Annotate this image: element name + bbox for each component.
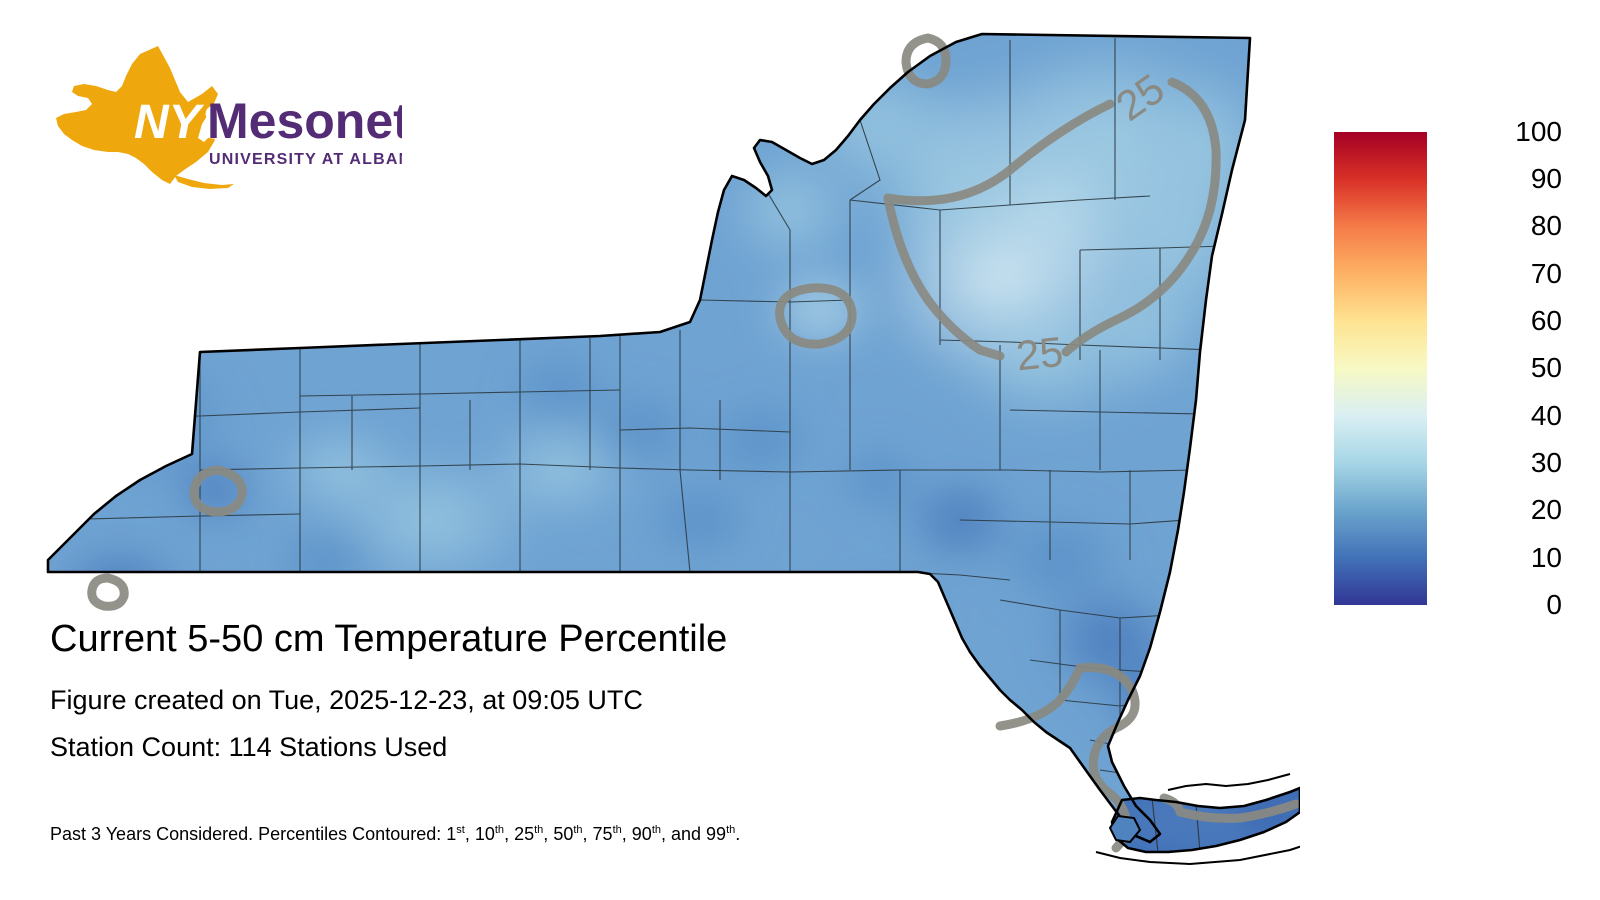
colorbar-tick-90: 90 [1438, 165, 1562, 193]
footnote-percentile-suffix: th [534, 824, 543, 836]
colorbar-tick-0: 0 [1438, 591, 1562, 619]
creation-timestamp: Figure created on Tue, 2025-12-23, at 09… [50, 686, 1050, 714]
colorbar-tick-10: 10 [1438, 544, 1562, 572]
footnote-separator: , [622, 824, 632, 844]
colorbar-tick-40: 40 [1438, 402, 1562, 430]
map-container: 25 25 [0, 0, 1300, 900]
colorbar-tick-80: 80 [1438, 212, 1562, 240]
colorbar-tick-labels: 100 90 80 70 60 50 40 30 20 10 0 [1438, 118, 1568, 618]
footnote-prefix: Past 3 Years Considered. Percentiles Con… [50, 824, 446, 844]
footnote-percentile-value: 75 [593, 824, 613, 844]
footnote-percentile-list: 1st, 10th, 25th, 50th, 75th, 90th, and 9… [446, 824, 740, 844]
footnote-percentile-value: 50 [553, 824, 573, 844]
colorbar-tick-20: 20 [1438, 496, 1562, 524]
contour-label-25-center: 25 [1014, 328, 1065, 380]
contour-25-loop-southwest [92, 578, 124, 606]
colorbar-tick-50: 50 [1438, 354, 1562, 382]
footnote-percentile-suffix: th [726, 824, 735, 836]
footnote-separator: , [504, 824, 514, 844]
footnote-separator: , [543, 824, 553, 844]
footnote-percentile-suffix: th [573, 824, 582, 836]
footnote-percentile-value: 25 [514, 824, 534, 844]
figure-text-block: Current 5-50 cm Temperature Percentile F… [50, 620, 1050, 762]
footnote-percentile-suffix: th [495, 824, 504, 836]
station-count: Station Count: 114 Stations Used [50, 733, 1050, 761]
footnote-percentile-value: and 99 [671, 824, 726, 844]
footnote-separator: . [735, 824, 740, 844]
footnote-percentile-value: 1 [446, 824, 456, 844]
colorbar-tick-60: 60 [1438, 307, 1562, 335]
footnote-percentile-suffix: st [456, 824, 465, 836]
mainland-percentile-field [0, 0, 1300, 900]
colorbar-tick-70: 70 [1438, 260, 1562, 288]
new-york-state-percentile-map: 25 25 [0, 0, 1300, 900]
footnote-separator: , [661, 824, 671, 844]
colorbar-tick-100: 100 [1438, 118, 1562, 146]
footnote-percentile-value: 10 [475, 824, 495, 844]
footnote-separator: , [583, 824, 593, 844]
footnote-percentile-suffix: th [613, 824, 622, 836]
footnote-percentile-suffix: th [652, 824, 661, 836]
footnote-separator: , [465, 824, 475, 844]
footnote-percentile-value: 90 [632, 824, 652, 844]
colorbar-gradient [1334, 132, 1427, 605]
colorbar-tick-30: 30 [1438, 449, 1562, 477]
percentile-colorbar: 100 90 80 70 60 50 40 30 20 10 0 [1334, 118, 1584, 618]
footnote: Past 3 Years Considered. Percentiles Con… [50, 824, 740, 845]
page-title: Current 5-50 cm Temperature Percentile [50, 620, 1050, 660]
long-island-north-shore-detail [1168, 774, 1290, 790]
